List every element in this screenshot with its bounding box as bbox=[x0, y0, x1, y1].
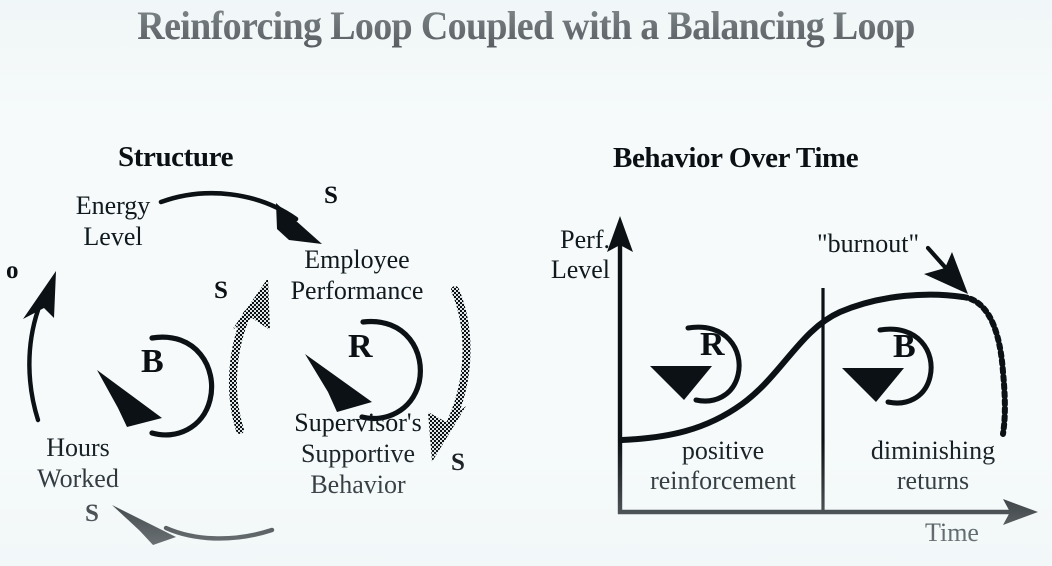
performance-curve-decline bbox=[963, 297, 1005, 434]
chart-reinforcing-loop-glyph bbox=[650, 327, 739, 401]
x-axis-label: Time bbox=[925, 518, 979, 548]
burnout-annotation-arrow bbox=[924, 248, 968, 294]
y-axis-label: Perf. Level bbox=[498, 225, 610, 285]
chart-loop-letter-reinforcing: R bbox=[700, 328, 725, 362]
phase-label-positive-reinforcement: positive reinforcement bbox=[628, 436, 818, 496]
chart-loop-letter-balancing: B bbox=[893, 330, 916, 364]
chart-balancing-loop-glyph bbox=[842, 329, 931, 403]
diagram-canvas: Reinforcing Loop Coupled with a Balancin… bbox=[0, 0, 1052, 566]
burnout-annotation-label: "burnout" bbox=[817, 229, 919, 259]
phase-label-diminishing-returns: diminishing returns bbox=[833, 436, 1033, 496]
